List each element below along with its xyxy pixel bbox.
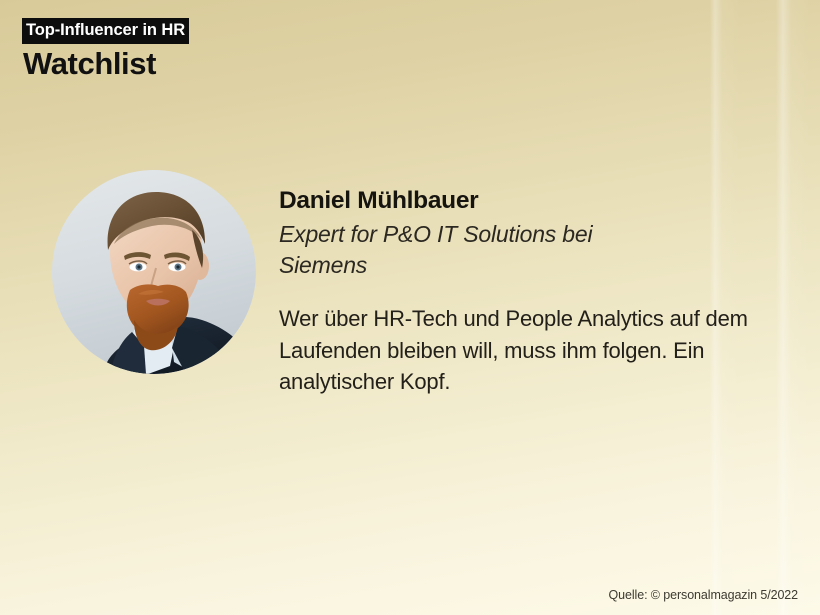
slide-header: Top-Influencer in HR Watchlist [22,18,189,81]
source-credit: Quelle: © personalmagazin 5/2022 [609,588,798,602]
influencer-watchlist-slide: Top-Influencer in HR Watchlist [0,0,820,615]
person-name: Daniel Mühlbauer [279,186,774,217]
pupil-right [176,265,179,268]
person-role: Expert for P&O IT Solutions bei Siemens [279,219,679,282]
portrait-photo-icon [52,170,256,374]
pupil-left [137,265,140,268]
page-title: Watchlist [23,47,189,81]
profile-text-block: Daniel Mühlbauer Expert for P&O IT Solut… [279,186,774,397]
kicker-badge: Top-Influencer in HR [22,18,189,44]
person-quote: Wer über HR-Tech und People Analytics au… [279,303,764,397]
avatar [52,170,256,374]
